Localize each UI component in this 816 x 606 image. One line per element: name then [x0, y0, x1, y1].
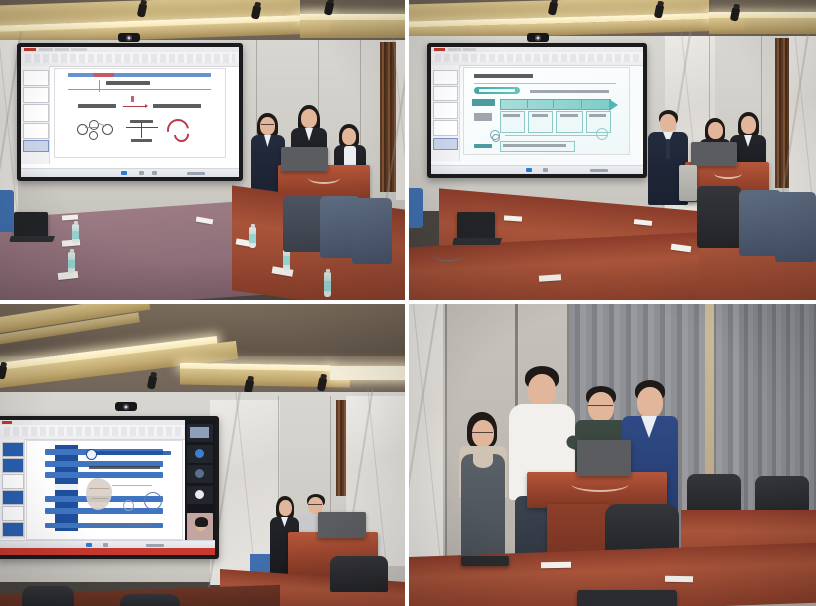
ppt-slide-canvas[interactable]: 互联网工业环境下网络安全数据采集与分析系统设计与实现 基于多源数据融合的工业控制…	[26, 440, 183, 540]
slide-thumbnail[interactable]	[2, 458, 24, 473]
ppt-play-button[interactable]	[86, 543, 92, 547]
ppt-slide-canvas[interactable]: 实验内容 —— 流行病学研究 调查研究与样本采集 按照需要，分高风险人群广泛采集…	[463, 67, 630, 155]
interactive-display[interactable]: 研究内容与方法 有机光电功能材料 ? 可控合成与性能调控研究	[17, 43, 243, 181]
ppt-command-row[interactable]	[4, 427, 210, 436]
map-diagram	[86, 478, 112, 510]
wood-column	[380, 42, 396, 192]
meeting-toolbar[interactable]	[0, 548, 215, 555]
slide-bottom-left: 互联网工业环境下网络安全数据采集与分析系统设计与实现 基于多源数据融合的工业控制…	[0, 420, 215, 555]
circle-callout	[596, 128, 608, 140]
glasses-icon	[472, 432, 493, 436]
ppt-slide-thumbnails[interactable]	[431, 65, 460, 161]
ppt-view-button[interactable]	[543, 168, 548, 172]
spiral-graphic	[492, 134, 500, 142]
map-line	[89, 488, 109, 489]
face	[301, 109, 317, 128]
pinafore-neckline	[473, 454, 493, 468]
chair	[120, 594, 180, 606]
slide-thumbnail[interactable]	[2, 506, 24, 521]
slide-right-label: 可控合成与性能调控研究	[153, 104, 201, 108]
slide-top-right: 实验内容 —— 流行病学研究 调查研究与样本采集 按照需要，分高风险人群广泛采集…	[431, 47, 643, 174]
ppt-slide-thumbnails[interactable]	[21, 66, 50, 164]
circle-callout-small	[123, 500, 134, 511]
slide-title-text: 研究内容与方法	[106, 81, 150, 85]
chair	[409, 188, 423, 228]
laptop-on-podium[interactable]	[281, 147, 328, 171]
participant-tile[interactable]	[187, 445, 213, 463]
participant-tile[interactable]	[187, 465, 213, 483]
ppt-zoom-slider[interactable]	[187, 172, 205, 175]
slide-footer-text: 汇报人：研究生 指导教师：副教授	[92, 523, 154, 526]
cable	[571, 476, 629, 492]
interactive-display[interactable]: 实验内容 —— 流行病学研究 调查研究与样本采集 按照需要，分高风险人群广泛采集…	[427, 43, 647, 178]
slide-thumbnail[interactable]	[23, 104, 49, 122]
water-bottle	[324, 272, 331, 297]
ppt-tab[interactable]	[55, 48, 69, 51]
water-bottle	[72, 224, 79, 244]
chair	[22, 586, 74, 606]
ppt-view-button[interactable]	[103, 543, 108, 547]
connector-line	[112, 485, 152, 486]
ceiling-slat	[709, 18, 816, 34]
participant-avatar	[195, 449, 204, 458]
glasses-icon	[308, 504, 322, 508]
name-placard	[541, 562, 571, 569]
face	[637, 387, 663, 418]
chair	[775, 192, 816, 262]
slide-banner-note: 按照需要，分高风险人群广泛采集样本中心	[530, 90, 609, 93]
slide-thumbnail[interactable]	[433, 86, 458, 101]
slide-thumbnail[interactable]	[2, 490, 24, 505]
laptop-base	[452, 238, 502, 245]
slide-title-rule	[68, 89, 211, 90]
ppt-file-tab[interactable]	[2, 421, 12, 424]
ppt-slide-canvas[interactable]: 研究内容与方法 有机光电功能材料 ? 可控合成与性能调控研究	[54, 68, 226, 158]
ppt-status-bar	[21, 168, 239, 177]
participant-video	[190, 427, 209, 438]
flow-box-text: 实验室检测与质控流程	[560, 114, 578, 117]
flow-divider	[527, 99, 528, 108]
necktie	[666, 139, 670, 159]
bottle-label	[249, 234, 256, 242]
slide-thumbnail[interactable]	[23, 70, 49, 86]
participant-avatar	[195, 469, 204, 478]
flow-box-text: 统计分析与报告	[589, 114, 606, 117]
ppt-command-row[interactable]	[25, 54, 234, 63]
bottle-label	[324, 281, 331, 291]
pinafore-dress	[461, 454, 505, 570]
slide-rule	[505, 135, 608, 136]
slide-footer-text: 成果产出与论文、专利、标准等	[503, 144, 566, 147]
ppt-play-button[interactable]	[526, 168, 532, 172]
flow-box-text: 现场问卷与样本采集实施	[532, 114, 549, 117]
ppt-tab[interactable]	[71, 48, 87, 51]
bottle-label	[68, 260, 75, 269]
slide-banner-text: 调查研究与样本采集	[479, 89, 515, 92]
slide-subtitle-text: 基于多源数据融合的工业控制网络异常检测方法研究	[89, 466, 160, 469]
photo-collage: 研究内容与方法 有机光电功能材料 ? 可控合成与性能调控研究	[0, 0, 816, 606]
chair	[283, 196, 325, 252]
slide-top-left: 研究内容与方法 有机光电功能材料 ? 可控合成与性能调控研究	[21, 47, 239, 177]
interactive-display[interactable]: 互联网工业环境下网络安全数据采集与分析系统设计与实现 基于多源数据融合的工业控制…	[0, 416, 219, 559]
chair	[352, 198, 392, 264]
conference-camera-icon	[527, 33, 549, 42]
university-seal-icon	[86, 449, 97, 460]
chair	[0, 190, 14, 232]
ppt-zoom-slider[interactable]	[146, 544, 164, 547]
panel-top-left: 研究内容与方法 有机光电功能材料 ? 可控合成与性能调控研究	[0, 0, 405, 300]
display-screen[interactable]: 实验内容 —— 流行病学研究 调查研究与样本采集 按照需要，分高风险人群广泛采集…	[431, 47, 643, 174]
slide-thumbnail[interactable]	[23, 123, 49, 139]
meeting-participant-strip[interactable]	[185, 420, 215, 550]
face	[342, 128, 356, 145]
face	[708, 122, 723, 139]
bottle-label	[283, 256, 290, 265]
cove-light	[330, 366, 405, 380]
laptop-foreground[interactable]	[577, 590, 677, 606]
slide-thumbnail[interactable]	[433, 70, 458, 85]
display-screen[interactable]: 研究内容与方法 有机光电功能材料 ? 可控合成与性能调控研究	[21, 47, 239, 177]
self-view-hair	[195, 517, 208, 527]
flow-divider	[553, 99, 554, 108]
laptop-on-podium[interactable]	[577, 440, 631, 476]
marble-wall-right	[789, 36, 816, 196]
marble-pilaster	[409, 304, 443, 572]
conference-camera-icon	[118, 33, 140, 42]
cable	[714, 168, 742, 179]
student-left	[457, 412, 509, 572]
cable	[433, 246, 463, 262]
participant-tile[interactable]	[187, 424, 213, 442]
laptop-on-podium[interactable]	[691, 142, 737, 166]
slide-thumbnail[interactable]	[23, 87, 49, 103]
bottle-label	[72, 231, 79, 239]
slide-nav-item[interactable]	[45, 472, 163, 478]
ppt-tab[interactable]	[463, 48, 476, 51]
ppt-zoom-slider[interactable]	[590, 169, 608, 172]
ppt-tab[interactable]	[448, 48, 461, 51]
panel-top-right: 实验内容 —— 流行病学研究 调查研究与样本采集 按照需要，分高风险人群广泛采集…	[409, 0, 816, 300]
laptop-on-table[interactable]	[14, 212, 48, 236]
slide-cross-v	[141, 122, 142, 138]
slide-nav-item[interactable]	[45, 508, 163, 514]
podium-side	[679, 165, 697, 201]
ppt-view-button[interactable]	[152, 171, 157, 175]
display-screen[interactable]: 互联网工业环境下网络安全数据采集与分析系统设计与实现 基于多源数据融合的工业控制…	[0, 420, 215, 555]
face	[741, 116, 756, 134]
laptop-on-podium[interactable]	[318, 512, 366, 538]
molecule-bond	[85, 127, 97, 128]
ppt-slide-thumbnails[interactable]	[0, 439, 25, 539]
flow-arrow-icon	[609, 99, 618, 111]
cable	[308, 172, 340, 184]
map-line	[92, 498, 108, 499]
marble-wall-right	[396, 40, 405, 200]
slide-left-note: 样本来源 医院随访	[474, 113, 492, 121]
chair	[697, 186, 741, 248]
slide-thumbnail[interactable]	[2, 522, 24, 537]
participant-tile[interactable]	[187, 486, 213, 504]
slide-thumbnail[interactable]	[2, 442, 24, 457]
slide-thumbnail-selected[interactable]	[23, 140, 49, 152]
slide-footer-label: 预期成果	[474, 144, 492, 148]
slide-thumbnail[interactable]	[433, 120, 458, 136]
ppt-command-row[interactable]	[435, 54, 639, 62]
molecule-ring	[89, 131, 98, 140]
participant-avatar	[195, 490, 204, 499]
flow-divider	[581, 99, 582, 108]
panel-bottom-left: 互联网工业环境下网络安全数据采集与分析系统设计与实现 基于多源数据融合的工业控制…	[0, 304, 405, 606]
slide-lower-center-label: 调控策略	[131, 139, 151, 142]
face	[660, 114, 676, 132]
ppt-status-bar	[431, 165, 643, 174]
laptop-base	[9, 236, 55, 242]
slide-color-strip	[68, 73, 211, 77]
molecule-ring	[77, 124, 88, 135]
slide-title-rule	[474, 83, 616, 84]
participant-tile-self[interactable]	[187, 513, 213, 542]
flow-bar	[500, 99, 611, 110]
slide-arrow	[123, 106, 147, 107]
ceiling-slat	[300, 20, 405, 38]
face	[528, 374, 556, 407]
ppt-view-button[interactable]	[139, 171, 144, 175]
slide-title-text: 实验内容 —— 流行病学研究	[474, 74, 534, 78]
slide-thumbnail-selected[interactable]	[433, 138, 458, 150]
ceiling-slat-dark	[709, 0, 816, 12]
water-bottle	[68, 252, 75, 274]
ppt-tab[interactable]	[39, 48, 53, 51]
slide-thumbnail[interactable]	[2, 474, 24, 489]
slide-title-tick	[99, 80, 100, 92]
ppt-play-button[interactable]	[121, 171, 127, 175]
panel-bottom-right	[409, 304, 816, 606]
name-placard	[665, 576, 693, 582]
water-bottle	[249, 227, 256, 248]
flow-box-text: 样本采集方案设计与审核	[503, 114, 520, 117]
ceiling-slat-dark	[300, 0, 405, 14]
slide-thumbnail[interactable]	[433, 102, 458, 119]
slide-title-text: 互联网工业环境下网络安全数据采集与分析系统设计与实现	[96, 451, 170, 455]
chair	[330, 556, 388, 592]
ppt-file-tab[interactable]	[24, 48, 36, 51]
slide-row-label: 研究研究方法及流程	[472, 99, 495, 106]
laptop-on-table[interactable]	[457, 212, 495, 238]
ppt-file-tab[interactable]	[434, 48, 445, 51]
glasses-icon	[261, 124, 274, 128]
face	[279, 500, 292, 516]
slide-question-mark: ?	[131, 96, 134, 102]
glasses-icon	[588, 405, 613, 409]
wood-column	[336, 400, 346, 496]
slide-left-label: 有机光电功能材料	[78, 104, 115, 108]
laptop-on-table[interactable]	[461, 556, 509, 566]
conference-camera-icon	[115, 402, 137, 411]
